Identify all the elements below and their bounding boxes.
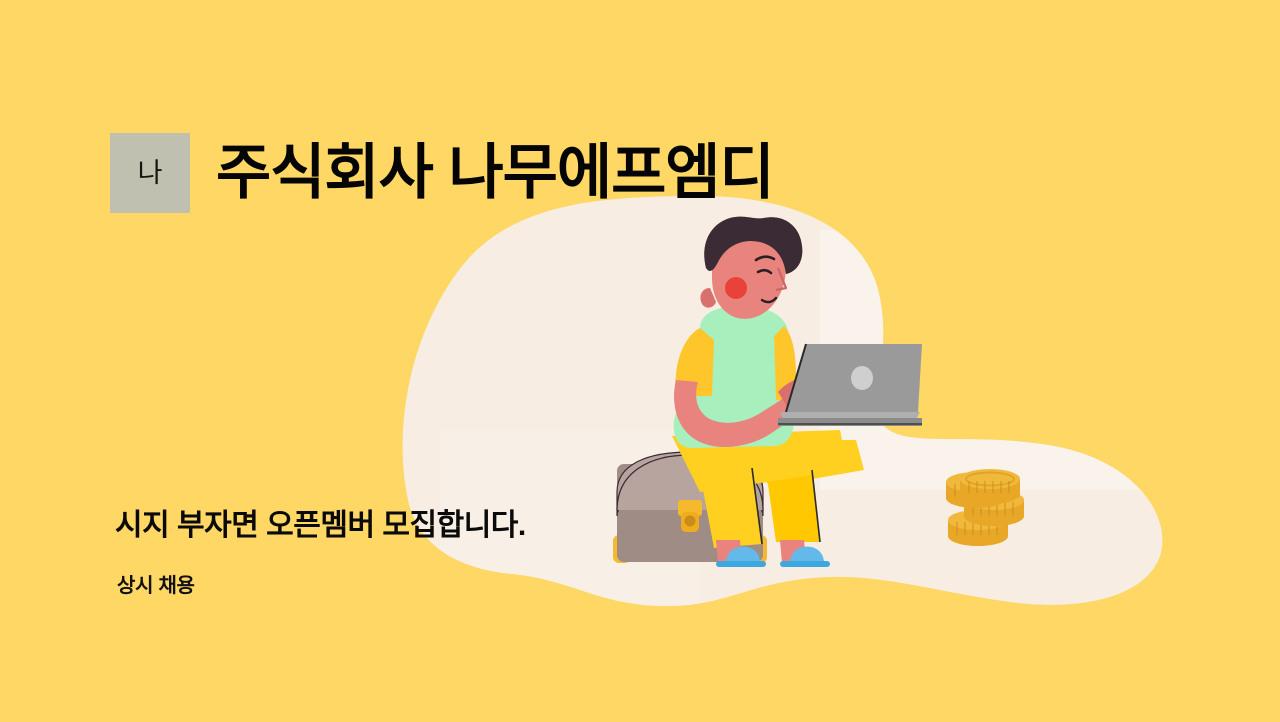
laptop-icon [778, 344, 925, 426]
blush [725, 277, 747, 299]
blob-shape [403, 196, 1163, 606]
briefcase-icon [613, 439, 767, 565]
shoes-icon [716, 540, 830, 567]
person-arms [674, 376, 842, 447]
person-torso [668, 298, 798, 452]
company-name: 주식회사 나무에프엠디 [216, 143, 774, 203]
company-header: 나 주식회사 나무에프엠디 [110, 127, 774, 219]
coin-stack-icon [946, 469, 1024, 546]
job-posting-card: 나 주식회사 나무에프엠디 시지 부자면 오픈멤버 모집합니다. 상시 채용 [0, 0, 1280, 722]
person-legs [672, 425, 864, 548]
person-head [700, 216, 804, 319]
posting-headline: 시지 부자면 오픈멤버 모집합니다. [115, 509, 526, 544]
company-logo-letter: 나 [138, 160, 163, 187]
man-working-on-laptop-illustration [0, 0, 1280, 722]
company-logo: 나 [110, 133, 190, 213]
background-blob [0, 0, 1280, 722]
employment-type-label: 상시 채용 [117, 575, 195, 598]
